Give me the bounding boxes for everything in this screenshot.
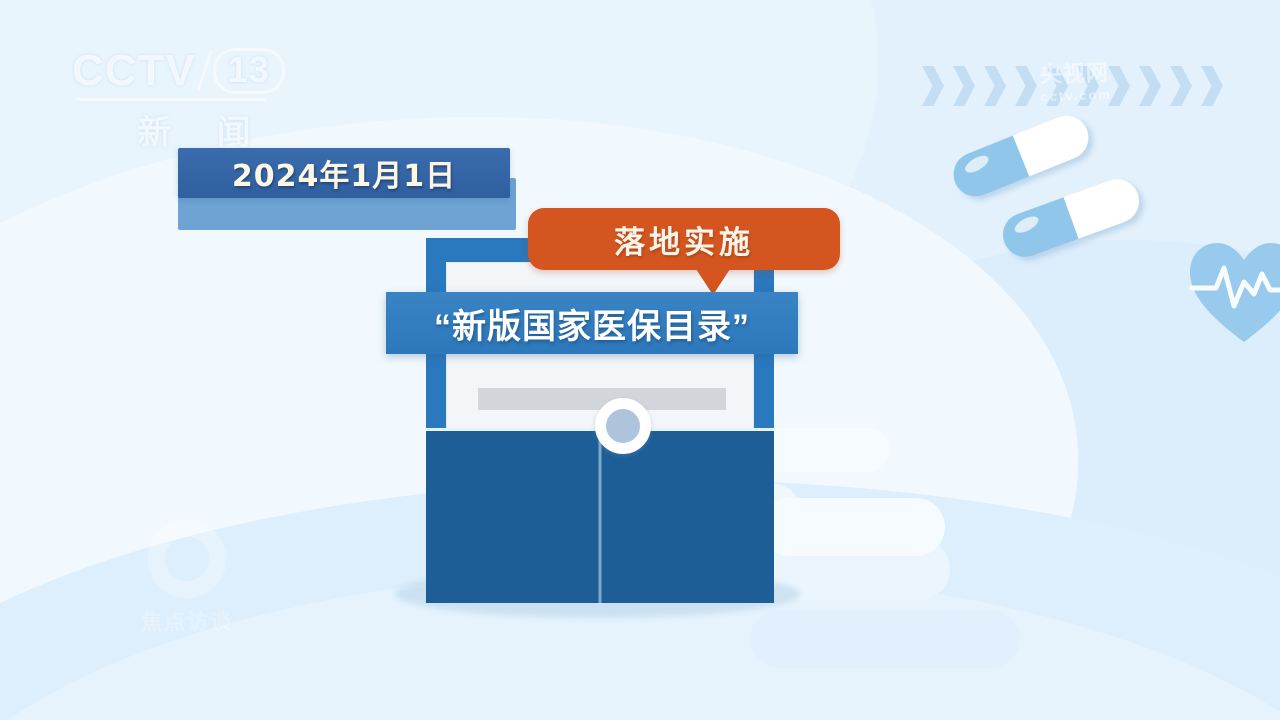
site-watermark: 央视网 cctv.com bbox=[1039, 55, 1112, 104]
callout-bubble-body: 落地实施 bbox=[528, 208, 840, 270]
program-watermark-label: 焦点访谈 bbox=[112, 606, 262, 636]
capsule-pill-icon bbox=[997, 173, 1145, 263]
capsule-pill-white-half bbox=[1013, 109, 1095, 176]
page-title: “新版国家医保目录” bbox=[434, 299, 750, 348]
cctv-logo-underline bbox=[76, 98, 266, 101]
date-banner-label: 2024年1月1日 bbox=[232, 151, 456, 195]
chevron-right-icon bbox=[984, 66, 1006, 106]
site-watermark-domain: cctv.com bbox=[1040, 87, 1112, 104]
chevron-right-icon bbox=[1015, 66, 1037, 106]
program-watermark-ring-icon bbox=[136, 508, 239, 611]
document-folder-icon bbox=[400, 230, 800, 620]
circular-clasp-icon bbox=[595, 398, 651, 454]
folder-front-flap bbox=[426, 428, 774, 603]
callout-label: 落地实施 bbox=[614, 217, 754, 262]
cctv-logo-wordmark: CCTV bbox=[72, 49, 196, 93]
cctv-logo: CCTV 13 新 闻 bbox=[72, 48, 312, 148]
callout-bubble: 落地实施 bbox=[528, 208, 840, 270]
site-watermark-cn: 央视网 bbox=[1039, 60, 1109, 87]
date-banner-plate: 2024年1月1日 bbox=[178, 148, 510, 198]
cctv-logo-channel-number: 13 bbox=[213, 48, 285, 94]
chevron-right-icon bbox=[922, 66, 944, 106]
heart-shape bbox=[1190, 243, 1280, 342]
capsule-pill-icon bbox=[947, 109, 1095, 203]
chevron-right-icon bbox=[1170, 66, 1192, 106]
chevron-right-icon bbox=[1201, 66, 1223, 106]
heart-ecg-icon bbox=[1186, 238, 1280, 350]
chevron-right-icon bbox=[953, 66, 975, 106]
date-banner: 2024年1月1日 bbox=[178, 148, 510, 198]
main-title-bar: “新版国家医保目录” bbox=[386, 292, 798, 354]
cctv-logo-row-primary: CCTV 13 bbox=[72, 48, 312, 94]
program-watermark: 焦点访谈 bbox=[112, 520, 262, 650]
folder-center-seam bbox=[599, 431, 602, 603]
chevron-right-icon bbox=[1139, 66, 1161, 106]
cctv-logo-subtitle: 新 闻 bbox=[72, 105, 312, 154]
capsule-pill-white-half bbox=[1063, 173, 1145, 239]
broadcast-graphic-stage: CCTV 13 新 闻 央视网 cctv.com bbox=[0, 0, 1280, 720]
cctv-logo-slash-icon bbox=[196, 51, 212, 91]
